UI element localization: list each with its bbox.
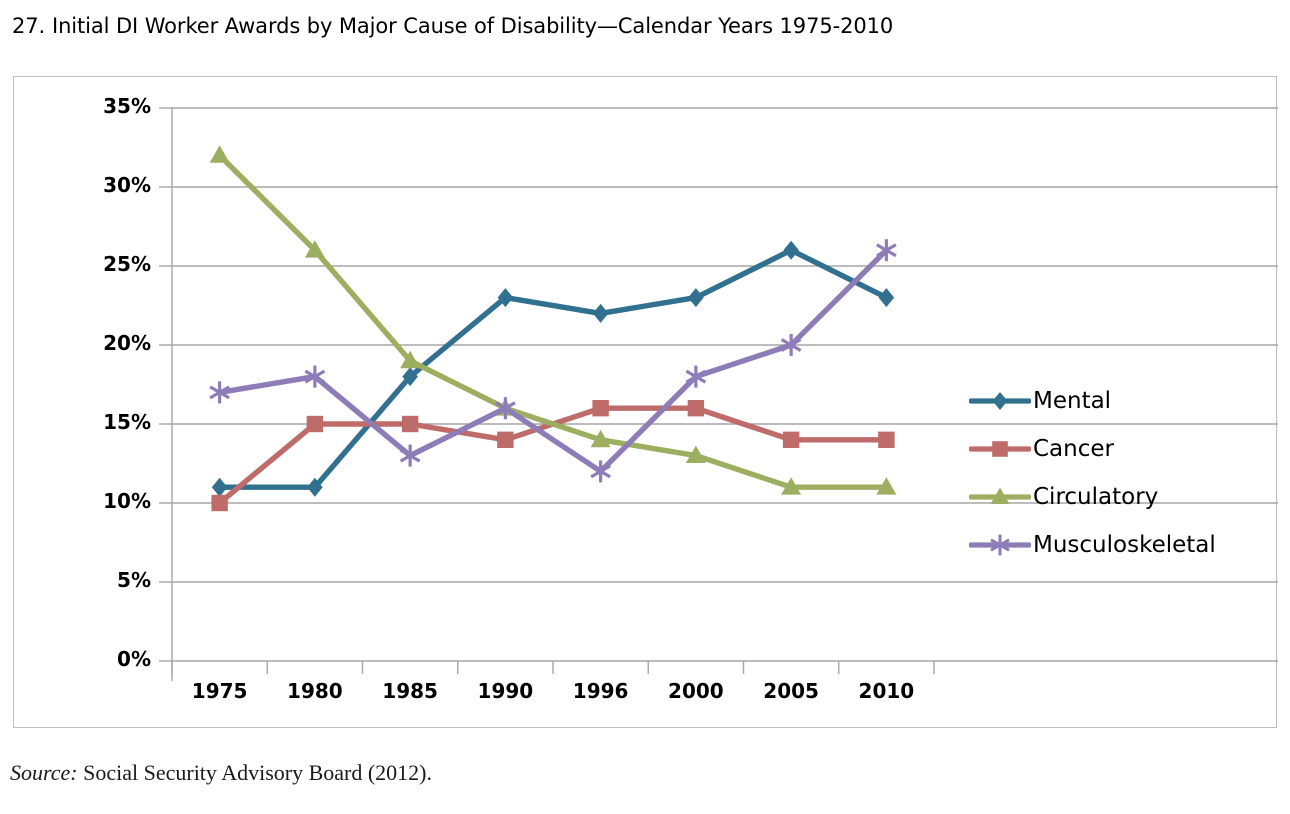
y-axis-label: 20%	[81, 331, 151, 355]
legend-label: Circulatory	[1033, 484, 1158, 510]
figure-title: 27.Initial DI Worker Awards by Major Cau…	[12, 14, 1262, 38]
y-axis-label: 25%	[81, 252, 151, 276]
x-axis-label: 1985	[362, 679, 458, 703]
y-axis-label: 0%	[81, 647, 151, 671]
legend-label: Cancer	[1033, 436, 1114, 462]
square-marker-icon	[688, 400, 704, 416]
x-axis-label: 2005	[743, 679, 839, 703]
square-marker-icon	[878, 432, 894, 448]
legend-key	[969, 532, 1031, 558]
source-note: Source: Social Security Advisory Board (…	[10, 760, 432, 786]
legend-label: Musculoskeletal	[1033, 532, 1216, 558]
diamond-marker-icon	[783, 241, 799, 260]
asterisk-marker-icon	[969, 532, 1031, 558]
square-marker-icon	[969, 436, 1031, 462]
square-marker-icon	[211, 495, 227, 511]
legend-key	[969, 484, 1031, 510]
chart-legend: MentalCancerCirculatoryMusculoskeletal	[969, 377, 1269, 569]
legend-key	[969, 388, 1031, 414]
legend-key	[969, 436, 1031, 462]
legend-label: Mental	[1033, 388, 1111, 414]
square-marker-icon	[783, 432, 799, 448]
x-axis-label: 1996	[553, 679, 649, 703]
y-axis-label: 30%	[81, 173, 151, 197]
y-axis-label: 15%	[81, 410, 151, 434]
x-axis-label: 1980	[267, 679, 363, 703]
legend-item-musculoskeletal[interactable]: Musculoskeletal	[969, 521, 1269, 569]
square-marker-icon	[992, 441, 1008, 457]
square-marker-icon	[402, 416, 418, 432]
y-axis-label: 10%	[81, 489, 151, 513]
y-axis-label: 35%	[81, 94, 151, 118]
triangle-marker-icon	[969, 484, 1031, 510]
diamond-marker-icon	[593, 304, 609, 323]
source-label: Source:	[10, 760, 78, 785]
x-axis-label: 2000	[648, 679, 744, 703]
square-marker-icon	[497, 432, 513, 448]
triangle-marker-icon	[210, 145, 230, 162]
diamond-marker-icon	[969, 388, 1031, 414]
figure-title-text: Initial DI Worker Awards by Major Cause …	[52, 14, 893, 38]
legend-item-mental[interactable]: Mental	[969, 377, 1269, 425]
diamond-marker-icon	[879, 288, 895, 307]
square-marker-icon	[307, 416, 323, 432]
source-text: Social Security Advisory Board (2012).	[83, 760, 432, 785]
diamond-marker-icon	[993, 392, 1008, 410]
y-axis-label: 5%	[81, 568, 151, 592]
x-axis-ticks	[159, 108, 934, 674]
diamond-marker-icon	[688, 288, 704, 307]
legend-item-circulatory[interactable]: Circulatory	[969, 473, 1269, 521]
figure-number: 27.	[12, 14, 52, 38]
x-axis-label: 1990	[457, 679, 553, 703]
x-axis-label: 1975	[172, 679, 268, 703]
chart-container: 35%30%25%20%15%10%5%0% 19751980198519901…	[13, 76, 1277, 728]
legend-item-cancer[interactable]: Cancer	[969, 425, 1269, 473]
square-marker-icon	[592, 400, 608, 416]
diamond-marker-icon	[212, 478, 228, 497]
series-line	[220, 250, 887, 487]
x-axis-label: 2010	[838, 679, 934, 703]
